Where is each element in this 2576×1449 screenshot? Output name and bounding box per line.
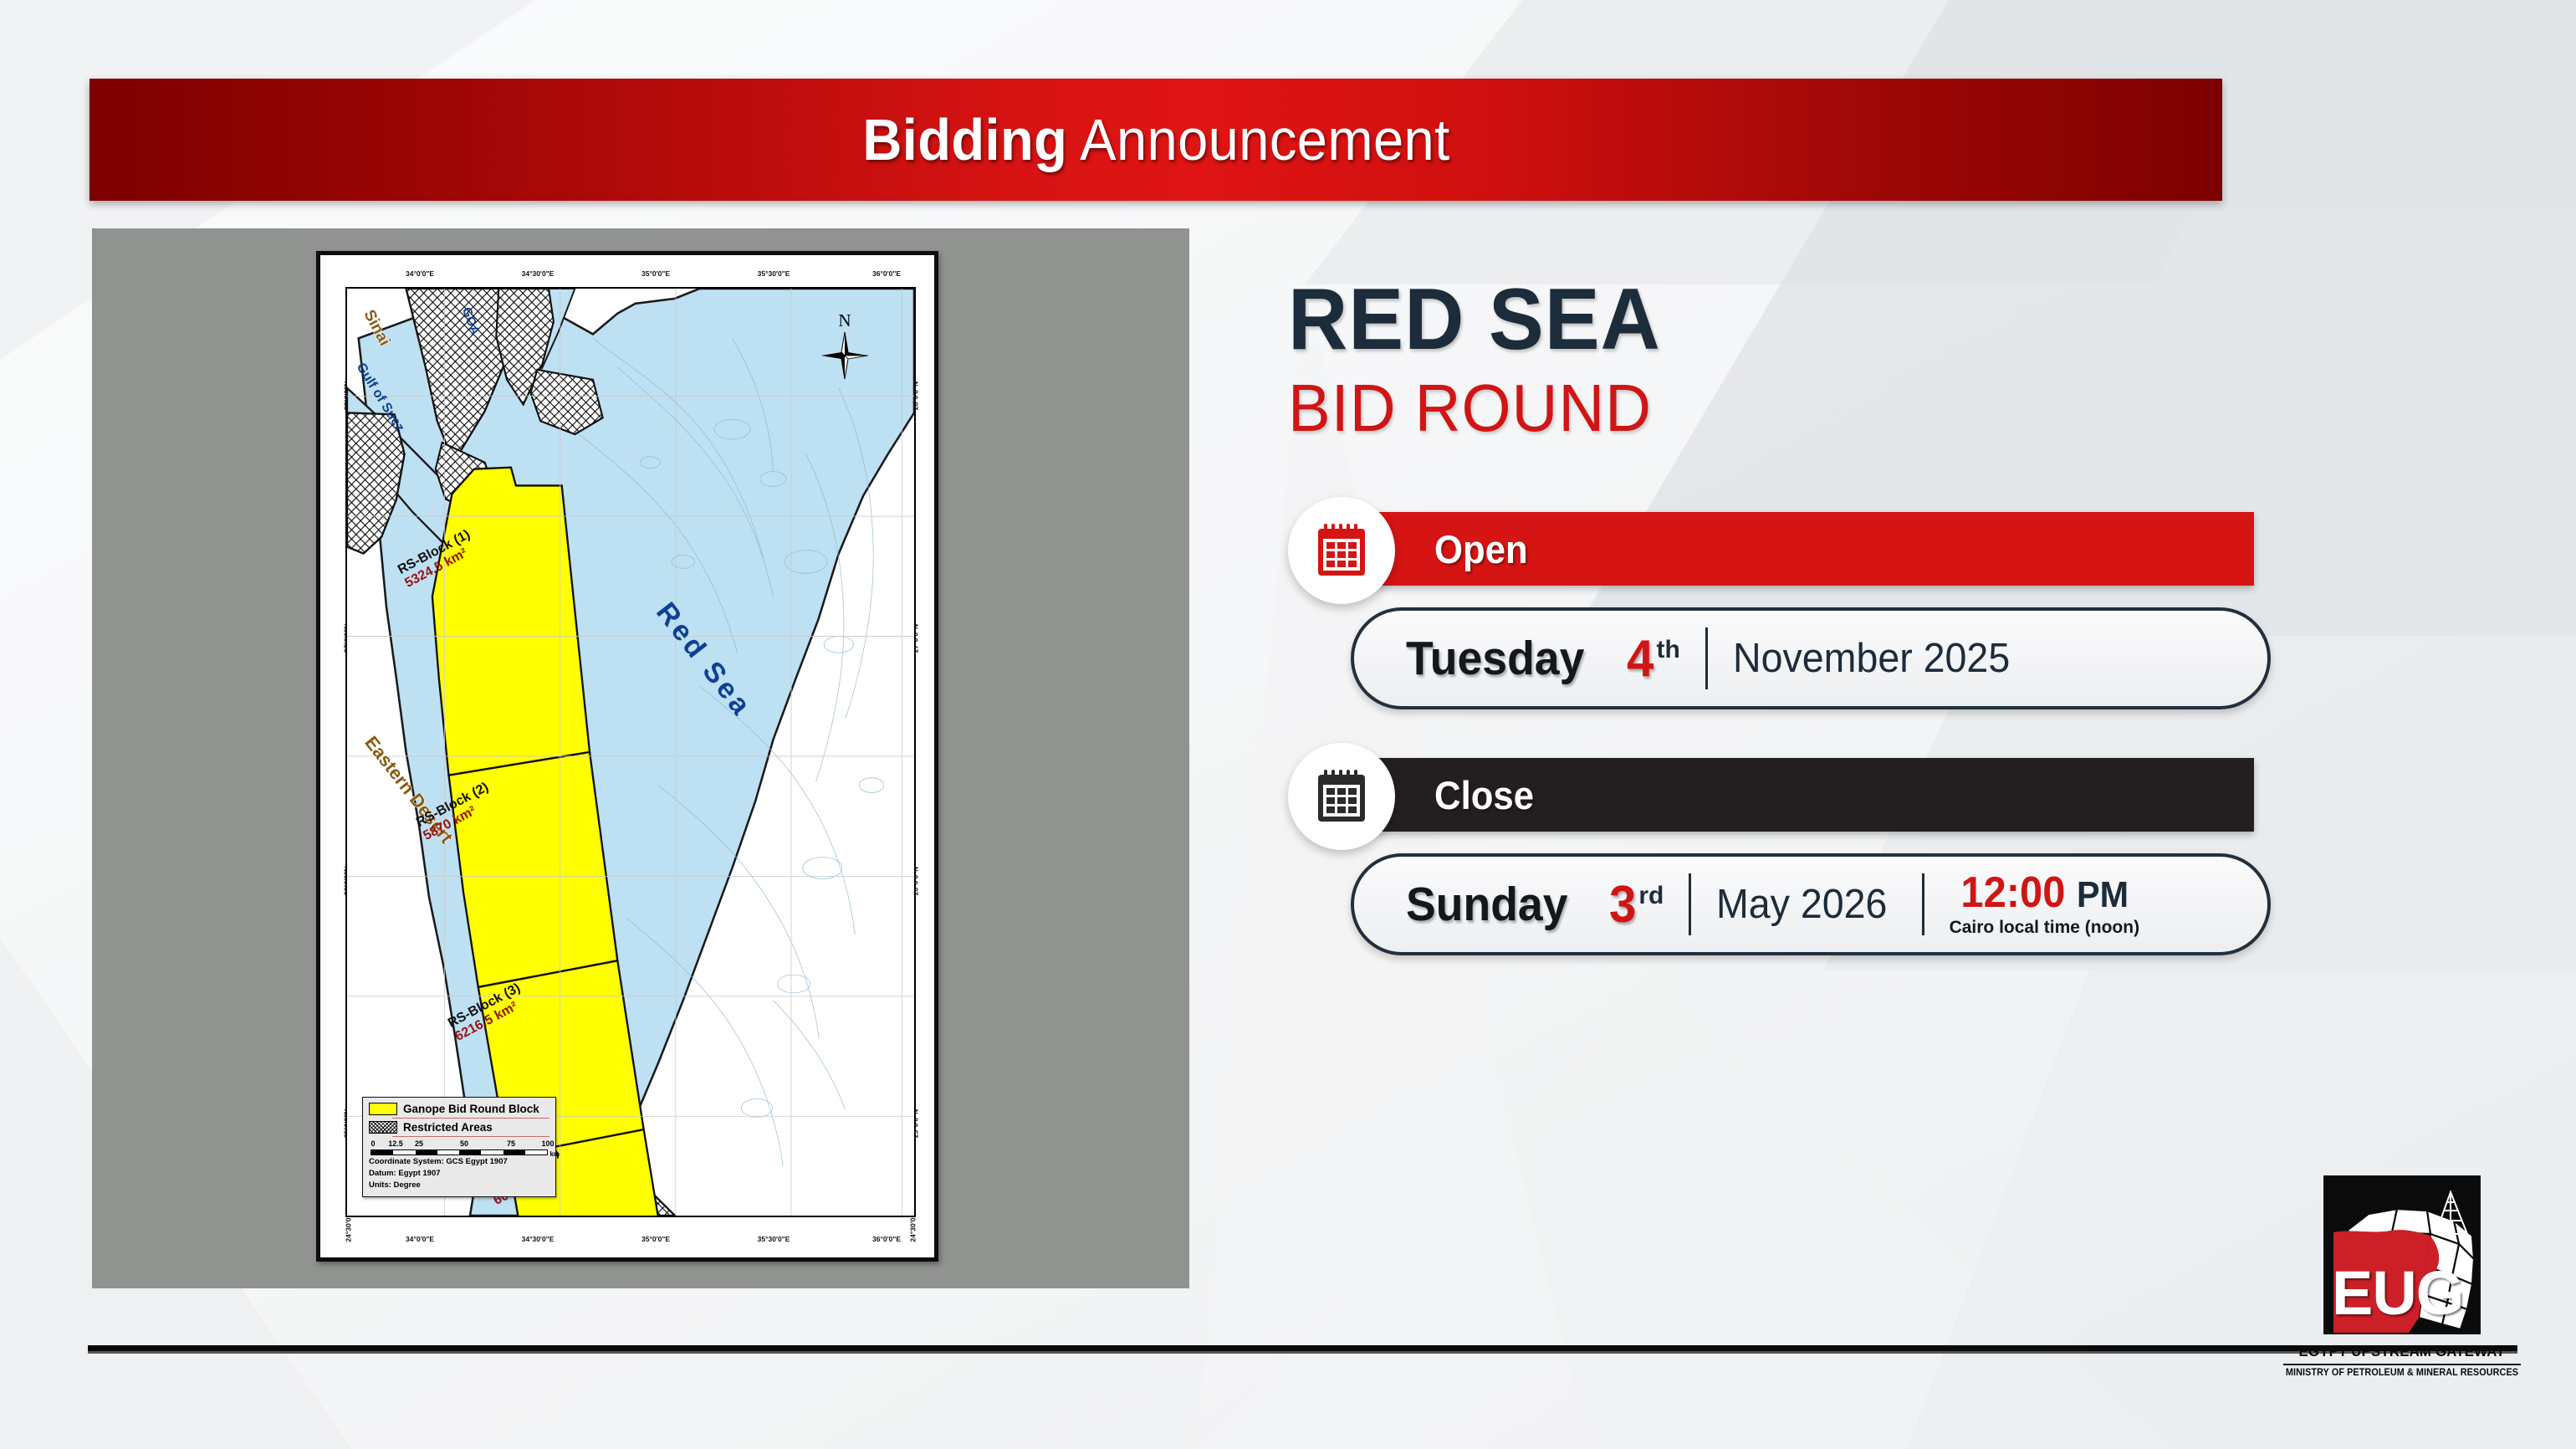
compass-rose-icon: N <box>819 312 871 386</box>
open-weekday: Tuesday <box>1406 631 1584 686</box>
scale-unit-label: km <box>549 1150 560 1158</box>
date-pill-open: Tuesday 4 th November 2025 <box>1351 607 2271 709</box>
scale-num-4: 75 <box>507 1139 515 1148</box>
pill-divider-open <box>1705 627 1708 689</box>
legend-divider-1 <box>392 1118 549 1119</box>
calendar-icon <box>1315 768 1368 825</box>
scale-num-3: 50 <box>460 1139 468 1148</box>
close-time-ampm: PM <box>2077 874 2129 915</box>
status-bar-close: Close <box>1351 758 2254 832</box>
lon-tick-3: 35°30'0"E <box>758 269 790 278</box>
legend-item-restricted: Restricted Areas <box>369 1121 549 1134</box>
lon-tick-0: 34°0'0"E <box>406 269 434 278</box>
legend-divider-2 <box>392 1136 549 1137</box>
legend-swatch-hatch-icon <box>369 1121 397 1134</box>
legend-swatch-yellow-icon <box>369 1103 397 1115</box>
schedule-group-close: Close Sunday 3 rd May <box>1288 758 2258 955</box>
open-month-year: November 2025 <box>1733 635 2010 682</box>
close-month-year: May 2026 <box>1716 881 1887 928</box>
scale-num-1: 12.5 <box>388 1139 403 1148</box>
lon-tick-1: 34°30'0"E <box>522 269 555 278</box>
compass-north-label: N <box>819 312 871 330</box>
header-banner: Bidding Announcement <box>89 79 2222 201</box>
lon-tick-4: 36°0'0"E <box>872 269 901 278</box>
close-day-ordinal: rd <box>1638 882 1664 910</box>
legend-label-block: Ganope Bid Round Block <box>403 1103 539 1115</box>
open-day-ordinal: th <box>1657 636 1680 664</box>
schedule-group-open: Open Tuesday 4 th Nov <box>1288 512 2258 709</box>
lon-tick-2: 35°0'0"E <box>641 269 670 278</box>
map-legend: Ganope Bid Round Block Restricted Areas … <box>362 1097 556 1197</box>
calendar-badge-open <box>1288 497 1395 604</box>
close-weekday: Sunday <box>1406 877 1568 932</box>
status-label-open: Open <box>1434 526 1528 572</box>
map-panel: 34°0'0"E 34°30'0"E 35°0'0"E 35°30'0"E 36… <box>92 228 1189 1288</box>
open-day-number: 4 <box>1627 629 1653 689</box>
lon-tick-bottom-3: 35°30'0"E <box>758 1235 790 1243</box>
calendar-badge-close <box>1288 743 1395 850</box>
map-canvas: Sinai Gulf of Suez GOA Red Sea Eastern D… <box>345 287 916 1217</box>
legend-item-block: Ganope Bid Round Block <box>369 1103 549 1115</box>
eug-logo-mark: EUG <box>2323 1175 2481 1334</box>
status-bar-open: Open <box>1351 512 2254 586</box>
map-graphic <box>347 289 914 1216</box>
eug-logo-name: EGYPT UPSTREAM GATEWAY <box>2282 1343 2522 1360</box>
lon-tick-bottom-2: 35°0'0"E <box>641 1235 670 1243</box>
close-time: 12:00 PM <box>1960 871 2129 914</box>
eug-logo-text: EUG <box>2332 1262 2463 1324</box>
lon-tick-bottom-0: 34°0'0"E <box>406 1235 434 1243</box>
legend-label-restricted: Restricted Areas <box>403 1121 493 1134</box>
footer-divider <box>88 1345 2517 1354</box>
announcement-panel: RED SEA BID ROUND Open Tue <box>1288 276 2258 955</box>
eug-logo-divider <box>2283 1364 2521 1365</box>
legend-units: Units: Degree <box>369 1180 549 1190</box>
close-timezone-note: Cairo local time (noon) <box>1950 918 2140 938</box>
scale-num-0: 0 <box>371 1139 375 1148</box>
map-frame: 34°0'0"E 34°30'0"E 35°0'0"E 35°30'0"E 36… <box>316 251 938 1262</box>
lon-tick-bottom-4: 36°0'0"E <box>872 1235 901 1243</box>
legend-datum: Datum: Egypt 1907 <box>369 1169 549 1179</box>
bid-round-title-line2: BID ROUND <box>1288 363 2210 453</box>
map-scalebar: 0 12.5 25 50 75 100 km <box>369 1139 549 1155</box>
page-title: Bidding Announcement <box>862 106 1449 173</box>
header-title-light: Announcement <box>1067 107 1449 172</box>
close-time-block: 12:00 PM Cairo local time (noon) <box>1950 871 2140 938</box>
eug-logo-subtitle: MINISTRY OF PETROLEUM & MINERAL RESOURCE… <box>2284 1368 2520 1378</box>
legend-coordinate-system: Coordinate System: GCS Egypt 1907 <box>369 1157 549 1167</box>
close-day-number: 3 <box>1609 875 1636 934</box>
close-time-value: 12:00 <box>1960 868 2065 917</box>
pill-divider-close-1 <box>1689 873 1691 935</box>
header-title-strong: Bidding <box>862 107 1067 172</box>
status-label-close: Close <box>1434 772 1534 818</box>
compass-star-icon <box>819 330 871 381</box>
scale-num-2: 25 <box>415 1139 423 1148</box>
date-pill-close: Sunday 3 rd May 2026 12:00 PM Cairo loca… <box>1351 853 2271 955</box>
lon-tick-bottom-1: 34°30'0"E <box>522 1235 555 1243</box>
scale-num-5: 100 <box>541 1139 554 1148</box>
eug-logo: EUG EGYPT UPSTREAM GATEWAY MINISTRY OF P… <box>2277 1175 2527 1378</box>
bid-round-title-line1: RED SEA <box>1288 276 2210 363</box>
scalebar-bar: km <box>371 1149 548 1155</box>
pill-divider-close-2 <box>1922 873 1924 935</box>
calendar-icon <box>1315 522 1368 579</box>
